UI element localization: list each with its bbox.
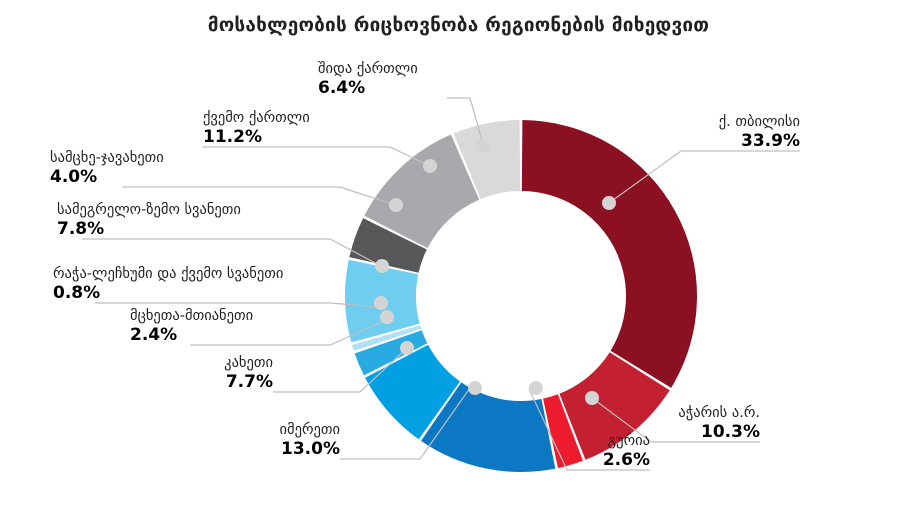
- label-tbilisi: ქ. თბილისი 33.9%: [690, 113, 800, 152]
- label-imereti: იმერეთი 13.0%: [230, 421, 340, 460]
- label-mtskheta-mtianeti-value: 2.4%: [130, 325, 253, 346]
- label-shida-kartli: შიდა ქართლი 6.4%: [318, 60, 418, 99]
- label-shida-kartli-name: შიდა ქართლი: [318, 60, 418, 78]
- label-samtskhe-javakheti-name: სამცხე-ჯავახეთი: [50, 149, 164, 167]
- donut-slice[interactable]: [522, 120, 697, 388]
- label-adjara: აჭარის ა.რ. 10.3%: [650, 404, 760, 443]
- label-imereti-value: 13.0%: [230, 439, 340, 460]
- label-racha-lechkhumi-value: 0.8%: [53, 283, 283, 304]
- label-mtskheta-mtianeti: მცხეთა-მთიანეთი 2.4%: [130, 307, 253, 346]
- label-adjara-name: აჭარის ა.რ.: [650, 404, 760, 422]
- donut-chart: [0, 0, 917, 526]
- label-samegrelo-zemo-svaneti-value: 7.8%: [57, 219, 241, 240]
- label-samtskhe-javakheti-value: 4.0%: [50, 167, 164, 188]
- label-shida-kartli-value: 6.4%: [318, 78, 418, 99]
- label-samegrelo-zemo-svaneti-name: სამეგრელო-ზემო სვანეთი: [57, 201, 241, 219]
- label-imereti-name: იმერეთი: [230, 421, 340, 439]
- label-kvemo-kartli-name: ქვემო ქართლი: [203, 109, 310, 127]
- label-racha-lechkhumi-name: რაჭა-ლეჩხუმი და ქვემო სვანეთი: [53, 265, 283, 283]
- label-guria-name: გურია: [540, 432, 650, 450]
- donut-slices: [345, 120, 697, 472]
- label-kakheti-name: კახეთი: [163, 354, 273, 372]
- label-kvemo-kartli-value: 11.2%: [203, 127, 310, 148]
- label-samtskhe-javakheti: სამცხე-ჯავახეთი 4.0%: [50, 149, 164, 188]
- label-kvemo-kartli: ქვემო ქართლი 11.2%: [203, 109, 310, 148]
- label-guria-value: 2.6%: [540, 450, 650, 471]
- label-adjara-value: 10.3%: [650, 422, 760, 443]
- label-tbilisi-name: ქ. თბილისი: [690, 113, 800, 131]
- label-samegrelo-zemo-svaneti: სამეგრელო-ზემო სვანეთი 7.8%: [57, 201, 241, 240]
- label-tbilisi-value: 33.9%: [690, 131, 800, 152]
- label-kakheti: კახეთი 7.7%: [163, 354, 273, 393]
- label-racha-lechkhumi: რაჭა-ლეჩხუმი და ქვემო სვანეთი 0.8%: [53, 265, 283, 304]
- label-mtskheta-mtianeti-name: მცხეთა-მთიანეთი: [130, 307, 253, 325]
- label-guria: გურია 2.6%: [540, 432, 650, 471]
- label-kakheti-value: 7.7%: [163, 372, 273, 393]
- chart-container: მოსახლეობის რიცხოვნობა რეგიონების მიხედვ…: [0, 0, 917, 526]
